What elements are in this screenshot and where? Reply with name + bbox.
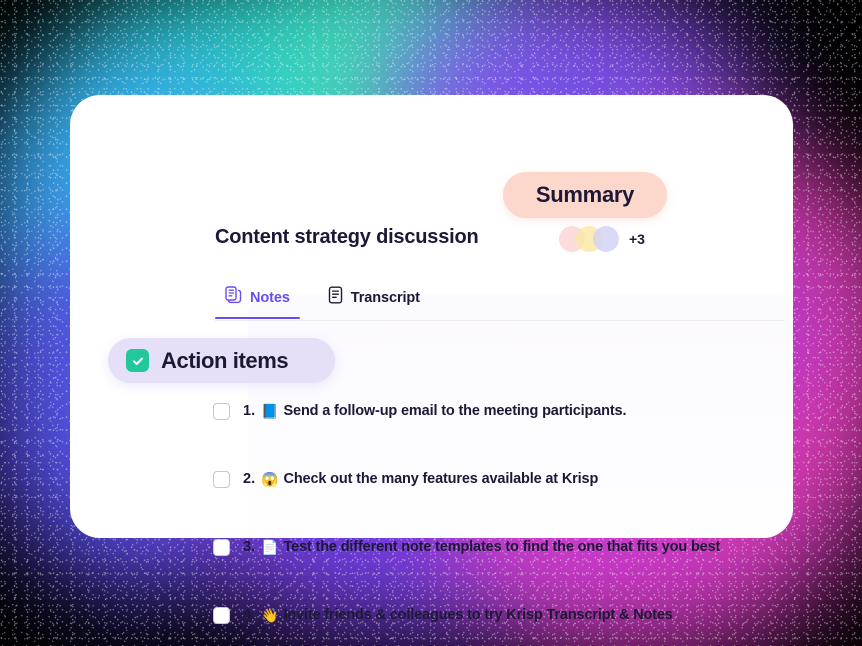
screenshot-stage: Content strategy discussion Summary +3 N…: [0, 0, 862, 646]
blue-book-emoji: 📘: [261, 404, 278, 418]
tab-notes[interactable]: Notes: [215, 282, 300, 319]
waving-hand-emoji: 👋: [261, 608, 278, 622]
avatar-overflow-count: +3: [629, 231, 645, 247]
action-items-label: Action items: [161, 348, 288, 374]
screaming-face-emoji: 😱: [261, 472, 278, 486]
action-item-checkbox[interactable]: [213, 403, 230, 420]
action-items-header: Action items: [108, 338, 335, 383]
summary-badge-label: Summary: [536, 182, 634, 208]
action-item-row[interactable]: 3. 📄 Test the different note templates t…: [213, 530, 788, 564]
page-title: Content strategy discussion: [215, 226, 479, 249]
action-item-text: Invite friends & colleagues to try Krisp…: [284, 607, 673, 623]
participant-avatars[interactable]: +3: [559, 226, 645, 252]
tab-transcript-label: Transcript: [351, 290, 420, 306]
avatar: [593, 226, 619, 252]
checked-checkbox-icon: [126, 349, 149, 372]
action-item-number: 4.: [243, 607, 255, 623]
action-item-number: 2.: [243, 471, 255, 487]
action-item-row[interactable]: 4. 👋 Invite friends & colleagues to try …: [213, 598, 788, 632]
page-document-emoji: 📄: [261, 540, 278, 554]
action-item-text: Send a follow-up email to the meeting pa…: [284, 403, 627, 419]
tab-notes-label: Notes: [250, 290, 290, 306]
action-item-number: 1.: [243, 403, 255, 419]
tab-divider: [215, 320, 785, 321]
action-item-row[interactable]: 1. 📘 Send a follow-up email to the meeti…: [213, 394, 788, 428]
tab-transcript[interactable]: Transcript: [318, 282, 430, 319]
action-item-text: Check out the many features available at…: [284, 471, 599, 487]
action-item-row[interactable]: 2. 😱 Check out the many features availab…: [213, 462, 788, 496]
action-item-number: 3.: [243, 539, 255, 555]
summary-badge[interactable]: Summary: [503, 172, 667, 218]
action-item-checkbox[interactable]: [213, 539, 230, 556]
notes-stack-icon: [225, 286, 242, 309]
action-item-text: Test the different note templates to fin…: [284, 539, 721, 555]
transcript-document-icon: [328, 286, 343, 309]
tab-bar: Notes Transcript: [215, 282, 430, 319]
action-item-checkbox[interactable]: [213, 607, 230, 624]
action-item-checkbox[interactable]: [213, 471, 230, 488]
action-items-list: 1. 📘 Send a follow-up email to the meeti…: [213, 394, 788, 632]
